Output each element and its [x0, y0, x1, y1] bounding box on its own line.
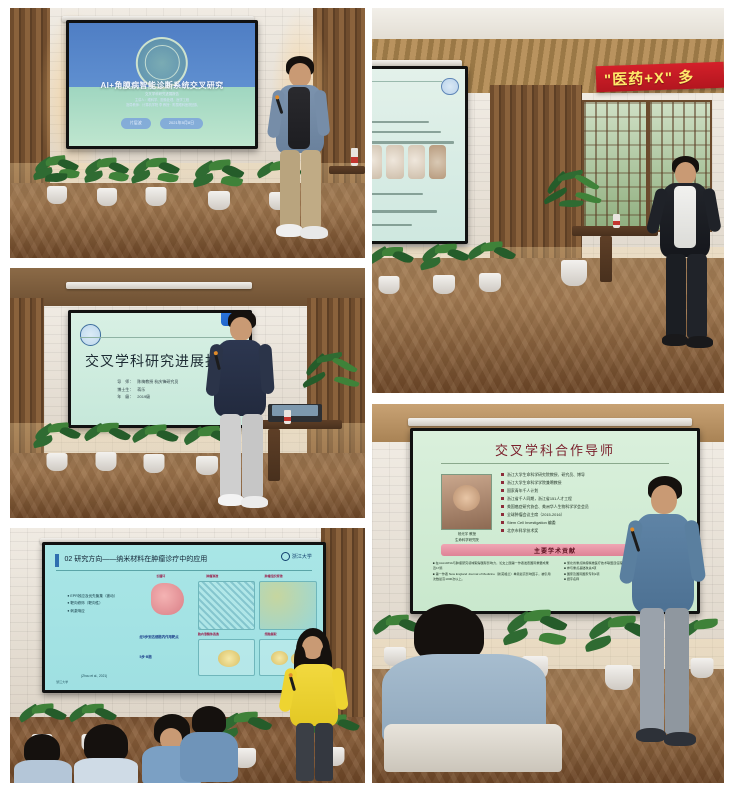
potted-plant — [130, 158, 182, 206]
audience-member — [14, 734, 74, 783]
potted-plant — [128, 425, 180, 473]
photo-panel-ai-cornea-talk[interactable]: AI+角膜病智能诊断系统交叉研究 交叉学科研究进展报告 主讲人：眼科学、图像处理… — [10, 8, 365, 258]
potted-plant — [418, 244, 470, 294]
potted-plant — [32, 156, 82, 204]
audience-member — [178, 706, 240, 783]
pill-date: 2021年5月8日 — [160, 118, 203, 129]
potted-plant — [192, 160, 246, 210]
slide-title: 02 研究方向——纳米材料在肿瘤诊疗中的应用 — [64, 554, 207, 564]
potted-plant — [80, 423, 132, 471]
slide-footer-pills: 片层波 2021年5月8日 — [69, 118, 255, 129]
figure-label: 细胞摄取 — [265, 632, 277, 636]
potted-plant — [32, 423, 82, 471]
pill-speaker: 片层波 — [121, 118, 151, 129]
contrib-left: ■ 在microRNA与肿瘤研究领域取得国际影响力，论文上国第一作者发表国际重要… — [433, 561, 552, 583]
photo-panel-nano-material-talk[interactable]: 02 研究方向——纳米材料在肿瘤诊疗中的应用 浙江大学 ● EPR效应及优先聚集… — [10, 528, 365, 783]
projection-screen — [372, 66, 468, 244]
hospital-emblem-icon — [441, 78, 459, 96]
slide-citation: (Zhou et al., 2021) — [81, 674, 107, 678]
figure-label: 长循环 — [156, 574, 165, 578]
presenter — [624, 476, 706, 776]
water-bottle — [613, 214, 620, 228]
slide-title: 交叉学科合作导师 — [413, 440, 697, 459]
presenter — [266, 56, 338, 246]
slide-content-cropped — [372, 69, 465, 241]
figure-label: 胞内溶酶体逃逸 — [198, 632, 219, 636]
zju-emblem-icon — [281, 552, 290, 561]
table-leg — [600, 236, 612, 282]
photo-panel-progress-report-talk[interactable]: Z 交叉学科研究进展报告 导 师： 陈梅教授 杭庆锋研究员 博士生： 蒋乐 年 … — [10, 268, 365, 518]
slide-annotation: 经5步到达细胞内作用靶点 — [140, 635, 179, 640]
audience-member — [72, 724, 140, 783]
event-banner: "医药+X" 多 — [596, 62, 724, 92]
presenter — [650, 156, 720, 356]
slide-footer: 浙江大学 — [56, 680, 68, 684]
slide-meta: 导 师： 陈梅教授 杭庆锋研究员 博士生： 蒋乐 年 级： 2019级 — [117, 378, 178, 401]
figure-label: 肿瘤渗透 — [206, 574, 218, 578]
water-bottle — [284, 410, 291, 424]
photo-collage: AI+角膜病智能诊断系统交叉研究 交叉学科研究进展报告 主讲人：眼科学、图像处理… — [0, 0, 730, 790]
advisor-portrait — [441, 474, 491, 530]
organ-illustration — [151, 583, 184, 615]
potted-plant — [82, 158, 132, 206]
slide-bullets: ● EPR效应及优先聚集（被动） ● 靶向修饰（靶向性） ● 刺激响应 — [67, 593, 117, 616]
slide-byline: 主讲人：眼科学、图像处理、医学工程 指导教师：计算机学院 李 教授 · 附属眼科… — [84, 98, 240, 108]
slide-ai-cornea: AI+角膜病智能诊断系统交叉研究 交叉学科研究进展报告 主讲人：眼科学、图像处理… — [69, 23, 255, 146]
advisor-name: 杨光宇 教授 生命科学研究院 — [436, 532, 498, 544]
figure-endosome-escape — [198, 639, 256, 676]
presenter — [280, 628, 348, 783]
figure-label: 肿瘤组织穿透 — [265, 574, 283, 578]
slide-annotation: 5步·B胞 — [140, 655, 152, 660]
potted-plant — [372, 246, 414, 294]
projection-screen: AI+角膜病智能诊断系统交叉研究 交叉学科研究进展报告 主讲人：眼科学、图像处理… — [66, 20, 258, 149]
banner-text: "医药+X" 多 — [596, 65, 695, 89]
seat-cushion — [384, 724, 562, 772]
side-table — [329, 166, 365, 174]
slide-title: AI+角膜病智能诊断系统交叉研究 — [84, 80, 240, 91]
hospital-emblem-icon — [80, 324, 102, 346]
photo-panel-banner-room-talk[interactable]: "医药+X" 多 — [372, 8, 724, 393]
figure-tumor-penetration — [259, 581, 317, 629]
university-logo: 浙江大学 — [281, 552, 312, 561]
water-bottle — [351, 148, 358, 166]
potted-plant — [464, 242, 516, 292]
presenter — [206, 310, 278, 516]
slide-subtitle: 交叉学科研究进展报告 — [84, 91, 240, 96]
figure-tumor-accumulation — [198, 581, 256, 629]
photo-panel-advisor-intro-talk[interactable]: 交叉学科合作导师 杨光宇 教授 生命科学研究院 浙江大学生命科学研究院教授、研究… — [372, 404, 724, 783]
